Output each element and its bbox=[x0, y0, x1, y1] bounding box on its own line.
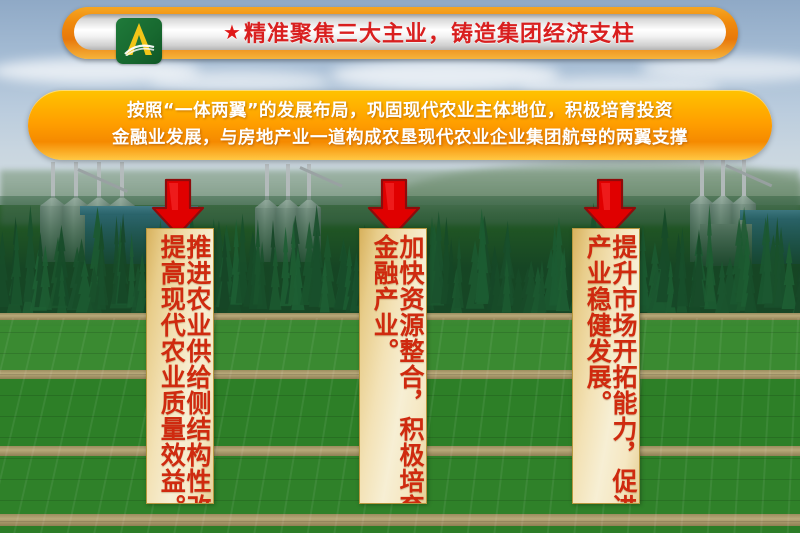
page-title-text: 精准聚焦三大主业，铸造集团经济支柱 bbox=[244, 16, 635, 48]
pillar-panel-1: 推进农业供给侧结构性改革， 提高现代农业质量效益。 bbox=[146, 228, 214, 504]
title-bar-inner: ★精准聚焦三大主业，铸造集团经济支柱 bbox=[74, 14, 726, 50]
subtitle-banner: 按照“一体两翼”的发展布局，巩固现代农业主体地位，积极培育投资 金融业发展，与房… bbox=[28, 90, 772, 160]
subtitle-banner-text: 按照“一体两翼”的发展布局，巩固现代农业主体地位，积极培育投资 金融业发展，与房… bbox=[28, 90, 772, 160]
pillar-3-text: 提升市场开拓能力，促进房地 产业稳健发展。 bbox=[573, 229, 639, 503]
pillar-3-column-left: 产业稳健发展。 bbox=[585, 234, 611, 416]
pillar-1-column-right: 推进农业供给侧结构性改革， bbox=[184, 234, 210, 504]
pillar-panel-3: 提升市场开拓能力，促进房地 产业稳健发展。 bbox=[572, 228, 640, 504]
cloud bbox=[150, 70, 330, 92]
star-icon: ★ bbox=[223, 20, 242, 44]
pillar-2-text: 加快资源整合，积极培育投资 金融产业。 bbox=[360, 229, 426, 503]
pillar-2-column-left: 金融产业。 bbox=[372, 234, 398, 364]
title-bar: ★精准聚焦三大主业，铸造集团经济支柱 bbox=[62, 7, 738, 59]
subtitle-line-1: 按照“一体两翼”的发展布局，巩固现代农业主体地位，积极培育投资 bbox=[127, 98, 673, 125]
pillar-3-column-right: 提升市场开拓能力，促进房地 bbox=[610, 234, 636, 504]
subtitle-line-2: 金融业发展，与房地产业一道构成农垦现代农业企业集团航母的两翼支撑 bbox=[112, 125, 688, 152]
page-title: ★精准聚焦三大主业，铸造集团经济支柱 bbox=[74, 14, 726, 50]
pillar-2-column-right: 加快资源整合，积极培育投资 bbox=[397, 234, 423, 504]
pillar-1-text: 推进农业供给侧结构性改革， 提高现代农业质量效益。 bbox=[147, 229, 213, 503]
pillar-1-column-left: 提高现代农业质量效益。 bbox=[159, 234, 185, 504]
pillar-panel-2: 加快资源整合，积极培育投资 金融产业。 bbox=[359, 228, 427, 504]
slide-canvas: ★精准聚焦三大主业，铸造集团经济支柱 按照“一体两翼”的发展布局，巩固现代农业主… bbox=[0, 0, 800, 533]
